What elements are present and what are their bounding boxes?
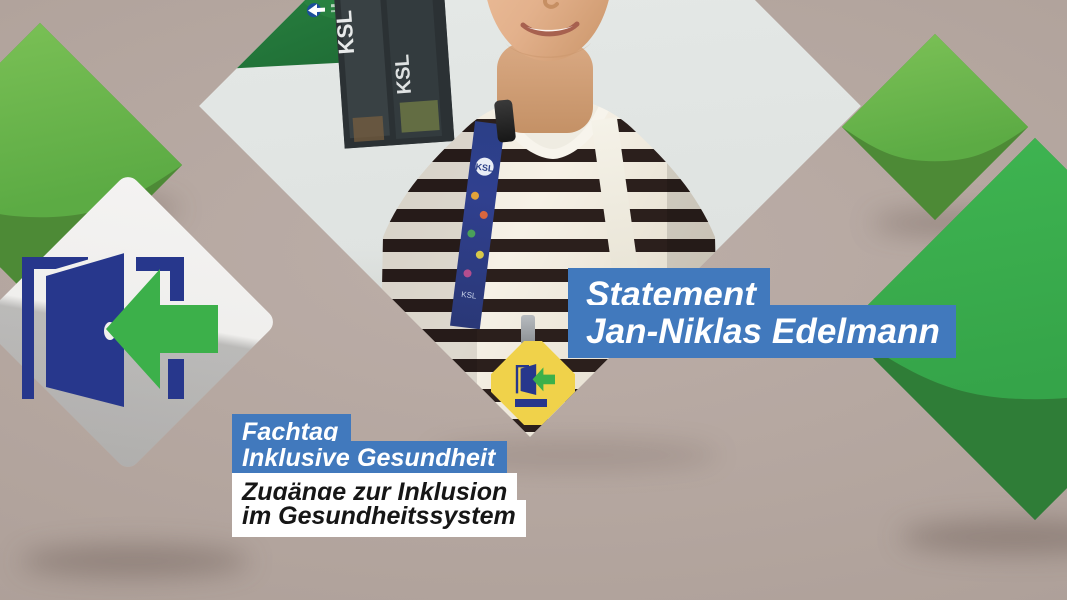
shadow-white-diamond [20,545,250,577]
video-frame: KSL KSL [0,0,1067,600]
svg-text:KSL: KSL [475,162,495,174]
conference-badge [491,341,575,425]
open-door-with-entering-arrow-logo [18,247,233,412]
event-title-line2: Inklusive Gesundheit [232,441,507,477]
photo-diamond-portrait: KSL KSL [199,0,861,437]
statement-title-line2: Jan-Niklas Edelmann [568,305,956,358]
svg-text:KSL: KSL [334,10,360,56]
shadow-large-right-diamond [900,520,1067,554]
svg-text:KSL: KSL [391,54,416,95]
head [465,0,631,73]
svg-text:KSL: KSL [461,290,478,301]
portrait-photo: KSL KSL [199,0,861,437]
event-subtitle-line2: im Gesundheitssystem [232,500,526,537]
